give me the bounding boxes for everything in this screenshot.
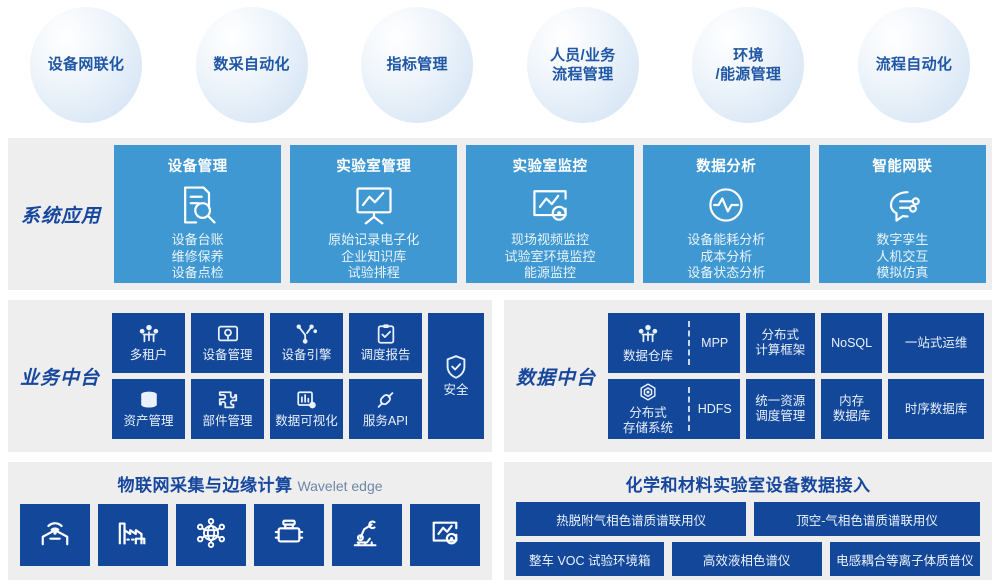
card-title: 实验室监控	[513, 155, 588, 176]
sensor-device-icon	[272, 517, 306, 554]
card-title: 实验室管理	[336, 155, 411, 176]
iot-tile-wifi-gateway[interactable]	[20, 504, 90, 566]
business-tile-asset-management[interactable]: 资产管理	[112, 379, 185, 439]
tile-label: 安全	[443, 383, 468, 398]
system-app-card-smart-connected[interactable]: 智能网联 数字孪生 人机交互 模拟仿真	[819, 145, 986, 283]
tile-label: 一站式运维	[905, 336, 968, 351]
tile-label: 分布式 存储系统	[623, 406, 673, 436]
system-app-card-device-management[interactable]: 设备管理 设备台账 维修保养 设备点检	[114, 145, 281, 283]
card-title: 数据分析	[696, 155, 756, 176]
iot-title-en: Wavelet edge	[297, 478, 382, 494]
monitor-chart-eye-icon	[527, 182, 573, 228]
capability-row: 设备网联化 数采自动化 指标管理 人员/业务 流程管理 环境 /能源管理 流程自…	[0, 0, 1000, 130]
robot-arm-icon	[350, 517, 384, 554]
device-manage-icon	[216, 323, 240, 345]
lab-chip-hplc[interactable]: 高效液相色谱仪	[672, 542, 822, 576]
data-tile-row-2: 分布式 存储系统 HDFS 统一资源 调度管理 内存 数据库 时序数据库	[608, 379, 984, 439]
business-tile-dispatch-report[interactable]: 调度报告	[349, 313, 422, 373]
data-platform-panel: 数据中台 数据仓库	[504, 300, 992, 452]
combo-right-mpp[interactable]: MPP	[690, 313, 740, 373]
data-tile-nosql[interactable]: NoSQL	[821, 313, 882, 373]
iot-tile-robot-arm[interactable]	[332, 504, 402, 566]
iot-tile-monitor-chart[interactable]	[410, 504, 480, 566]
lab-chip-rows: 热脱附气相色谱质谱联用仪 顶空-气相色谱质谱联用仪 整车 VOC 试验环境箱 高…	[504, 496, 992, 576]
factory-icon	[116, 517, 150, 554]
chip-label: 热脱附气相色谱质谱联用仪	[556, 510, 706, 529]
multi-tenant-icon	[137, 323, 161, 345]
lab-chip-headspace-gcms[interactable]: 顶空-气相色谱质谱联用仪	[754, 502, 980, 536]
tile-label: 数据可视化	[275, 414, 338, 429]
card-lines: 设备台账 维修保养 设备点检	[172, 232, 224, 282]
monitor-chart-eye-icon	[428, 517, 462, 554]
card-lines: 现场视频监控 试验室环境监控 能源监控	[505, 232, 596, 282]
data-tile-in-memory-db[interactable]: 内存 数据库	[821, 379, 882, 439]
data-platform-grid: 数据仓库 MPP 分布式 计算框架 NoSQL 一站式运维	[608, 313, 992, 439]
chip-label: 顶空-气相色谱质谱联用仪	[796, 510, 938, 529]
engine-node-icon	[295, 323, 319, 345]
business-tile-device-engine[interactable]: 设备引擎	[270, 313, 343, 373]
lab-chip-row-2: 整车 VOC 试验环境箱 高效液相色谱仪 电感耦合等离子体质普仪	[516, 542, 980, 576]
puzzle-piece-icon	[217, 389, 239, 411]
data-tile-one-stop-ops[interactable]: 一站式运维	[888, 313, 984, 373]
data-tile-distributed-compute[interactable]: 分布式 计算框架	[746, 313, 816, 373]
capability-ellipse[interactable]: 设备网联化	[30, 7, 142, 123]
business-platform-label: 业务中台	[8, 363, 112, 390]
business-tile-data-visualization[interactable]: 数据可视化	[270, 379, 343, 439]
chip-label: 高效液相色谱仪	[703, 550, 791, 569]
iot-tile-factory[interactable]	[98, 504, 168, 566]
card-title: 设备管理	[168, 155, 228, 176]
capability-label: 人员/业务 流程管理	[550, 46, 616, 84]
tile-label: 时序数据库	[905, 402, 968, 417]
business-platform-grid: 多租户 设备管理	[112, 313, 492, 439]
business-tile-row-1: 多租户 设备管理	[112, 313, 422, 373]
business-tile-row-2: 资产管理 部件管理	[112, 379, 422, 439]
network-globe-icon	[194, 517, 228, 554]
tile-label: 统一资源 调度管理	[755, 394, 805, 424]
data-tile-row-1: 数据仓库 MPP 分布式 计算框架 NoSQL 一站式运维	[608, 313, 984, 373]
iot-edge-panel: 物联网采集与边缘计算Wavelet edge	[8, 462, 492, 580]
tile-label: 数据仓库	[623, 349, 673, 364]
tile-label: NoSQL	[831, 336, 872, 351]
shield-check-icon	[444, 354, 468, 380]
capability-ellipse[interactable]: 环境 /能源管理	[692, 7, 804, 123]
api-plug-icon	[374, 389, 397, 411]
chip-label: 整车 VOC 试验环境箱	[529, 550, 651, 569]
tile-label: 服务API	[363, 414, 408, 429]
business-tile-columns: 多租户 设备管理	[112, 313, 422, 439]
iot-tile-network-globe[interactable]	[176, 504, 246, 566]
asset-database-icon	[137, 389, 161, 411]
lab-chip-row-1: 热脱附气相色谱质谱联用仪 顶空-气相色谱质谱联用仪	[516, 502, 980, 536]
lab-section-header: 化学和材料实验室设备数据接入	[504, 462, 992, 496]
pulse-circle-icon	[704, 182, 748, 228]
distributed-storage-icon	[637, 382, 659, 406]
card-lines: 设备能耗分析 成本分析 设备状态分析	[687, 232, 765, 282]
data-combo-storage-hdfs[interactable]: 分布式 存储系统 HDFS	[608, 379, 740, 439]
tile-label: 调度报告	[360, 348, 410, 363]
lab-chip-td-gcms[interactable]: 热脱附气相色谱质谱联用仪	[516, 502, 746, 536]
capability-ellipse[interactable]: 指标管理	[361, 7, 473, 123]
iot-icon-row	[8, 496, 492, 566]
combo-right-hdfs[interactable]: HDFS	[690, 379, 740, 439]
tile-label: 资产管理	[123, 414, 173, 429]
data-tile-unified-resource-scheduling[interactable]: 统一资源 调度管理	[746, 379, 816, 439]
system-applications-label: 系统应用	[8, 201, 114, 228]
business-tile-service-api[interactable]: 服务API	[349, 379, 422, 439]
system-application-cards: 设备管理 设备台账 维修保养 设备点检 实验室管理	[114, 145, 992, 283]
capability-ellipse[interactable]: 数采自动化	[196, 7, 308, 123]
capability-label: 环境 /能源管理	[716, 46, 782, 84]
card-lines: 原始记录电子化 企业知识库 试验排程	[328, 232, 419, 282]
capability-ellipse[interactable]: 流程自动化	[858, 7, 970, 123]
system-app-card-data-analysis[interactable]: 数据分析 设备能耗分析 成本分析 设备状态分析	[643, 145, 810, 283]
tile-label: 部件管理	[202, 414, 252, 429]
tile-label: HDFS	[698, 402, 732, 417]
tile-label: 内存 数据库	[833, 394, 871, 424]
tile-label: 设备引擎	[281, 348, 331, 363]
data-platform-label: 数据中台	[504, 363, 608, 390]
capability-label: 设备网联化	[48, 55, 125, 74]
system-app-card-lab-monitoring[interactable]: 实验室监控 现场视频监控 试验室环境监控 能源监控	[466, 145, 633, 283]
combo-left-storage[interactable]: 分布式 存储系统	[608, 379, 688, 439]
tile-label: 多租户	[130, 348, 168, 363]
capability-ellipse[interactable]: 人员/业务 流程管理	[527, 7, 639, 123]
tile-label: 分布式 计算框架	[755, 328, 805, 358]
lab-chip-icp-ms[interactable]: 电感耦合等离子体质普仪	[830, 542, 980, 576]
business-platform-panel: 业务中台 多租户	[8, 300, 492, 452]
card-lines: 数字孪生 人机交互 模拟仿真	[876, 232, 928, 282]
data-combo-warehouse-mpp[interactable]: 数据仓库 MPP	[608, 313, 740, 373]
iot-section-header: 物联网采集与边缘计算Wavelet edge	[8, 462, 492, 496]
wifi-gateway-icon	[38, 517, 72, 554]
system-app-card-lab-management[interactable]: 实验室管理 原始记录电子化 企业知识库 试验排程	[290, 145, 457, 283]
combo-left-warehouse[interactable]: 数据仓库	[608, 313, 688, 373]
chat-connect-icon	[880, 182, 924, 228]
business-tile-device-management[interactable]: 设备管理	[191, 313, 264, 373]
tile-label: MPP	[701, 336, 728, 351]
business-tile-multi-tenant[interactable]: 多租户	[112, 313, 185, 373]
iot-tile-sensor-device[interactable]	[254, 504, 324, 566]
lab-chip-voc-chamber[interactable]: 整车 VOC 试验环境箱	[516, 542, 664, 576]
capability-label: 流程自动化	[876, 55, 953, 74]
lab-title-cn: 化学和材料实验室设备数据接入	[626, 476, 871, 495]
data-tile-timeseries-db[interactable]: 时序数据库	[888, 379, 984, 439]
card-title: 智能网联	[872, 155, 932, 176]
document-search-icon	[176, 182, 220, 228]
data-visual-icon	[295, 389, 318, 411]
data-warehouse-icon	[636, 323, 660, 349]
presentation-chart-icon	[351, 182, 397, 228]
lab-equipment-panel: 化学和材料实验室设备数据接入 热脱附气相色谱质谱联用仪 顶空-气相色谱质谱联用仪…	[504, 462, 992, 580]
capability-label: 指标管理	[387, 55, 448, 74]
chip-label: 电感耦合等离子体质普仪	[836, 550, 974, 569]
clipboard-check-icon	[375, 323, 397, 345]
iot-title-cn: 物联网采集与边缘计算	[117, 476, 292, 495]
tile-label: 设备管理	[202, 348, 252, 363]
system-applications-panel: 系统应用 设备管理 设备台账 维修保养 设备点检 实验室管理	[8, 138, 992, 290]
business-tile-security[interactable]: 安全	[428, 313, 484, 439]
business-tile-component-management[interactable]: 部件管理	[191, 379, 264, 439]
capability-label: 数采自动化	[213, 55, 290, 74]
